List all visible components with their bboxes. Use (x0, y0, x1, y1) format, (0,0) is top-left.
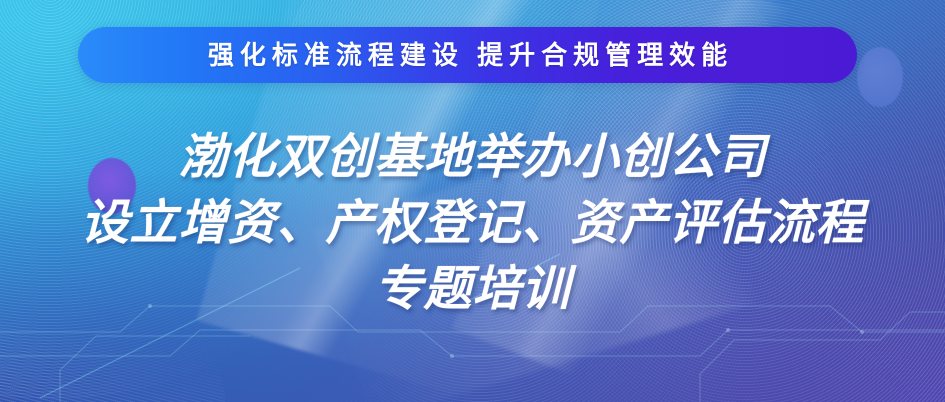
tagline-pill: 强化标准流程建设 提升合规管理效能 (78, 27, 857, 83)
promo-banner: 强化标准流程建设 提升合规管理效能 渤化双创基地举办小创公司 设立增资、产权登记… (0, 0, 945, 402)
tagline-text: 强化标准流程建设 提升合规管理效能 (202, 42, 733, 68)
